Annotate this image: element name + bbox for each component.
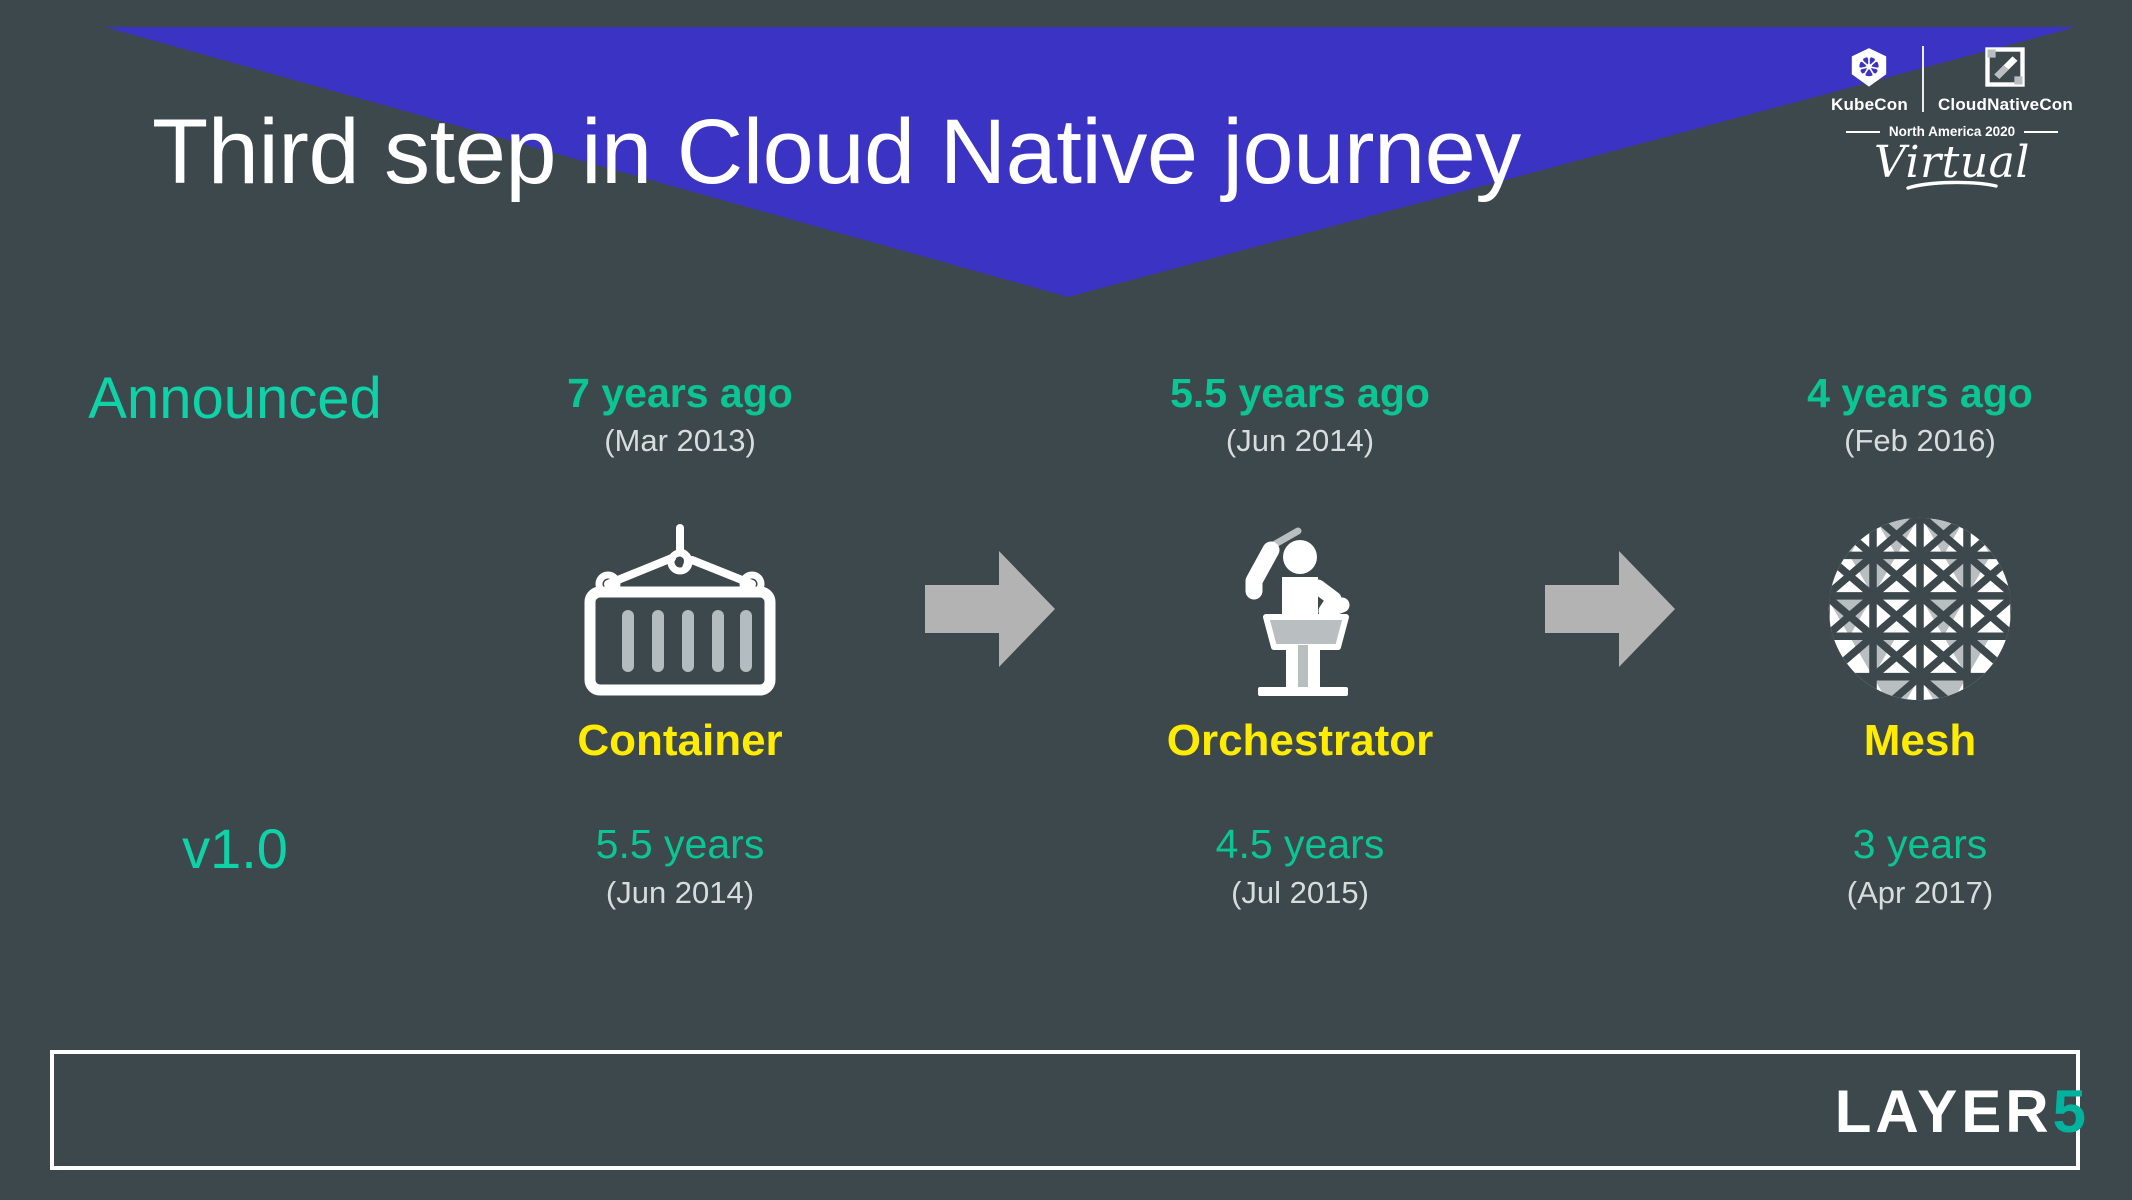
row-announced: Announced 7 years ago (Mar 2013) 5.5 yea… bbox=[0, 370, 2132, 461]
announced-age-orchestrator: 5.5 years ago bbox=[1090, 370, 1510, 417]
announced-age-container: 7 years ago bbox=[470, 370, 890, 417]
shipping-container-icon bbox=[580, 522, 780, 697]
v1-mesh: 3 years (Apr 2017) bbox=[1710, 821, 2130, 912]
announced-date-mesh: (Feb 2016) bbox=[1710, 421, 2130, 461]
icon-cell-orchestrator bbox=[1090, 509, 1510, 709]
logo-divider bbox=[1922, 46, 1924, 112]
icon-box-container bbox=[470, 509, 890, 709]
icon-box-orchestrator bbox=[1090, 509, 1510, 709]
category-name-container: Container bbox=[470, 719, 890, 763]
icon-cell-mesh bbox=[1710, 509, 2130, 709]
layer5-digit: 5 bbox=[2053, 1082, 2086, 1142]
virtual-wordmark: Virtual bbox=[1816, 141, 2088, 185]
cloudnativecon-label: CloudNativeCon bbox=[1938, 95, 2073, 115]
announced-date-orchestrator: (Jun 2014) bbox=[1090, 421, 1510, 461]
kubecon-cloudnativecon-logo: KubeCon CloudNativeCon North America 202… bbox=[1816, 46, 2088, 193]
layer5-logo: LAYER 5 bbox=[1835, 1082, 2086, 1142]
arrow-cell-2 bbox=[1510, 551, 1710, 667]
announced-container: 7 years ago (Mar 2013) bbox=[470, 370, 890, 461]
row-category-names: Container Orchestrator Mesh bbox=[0, 719, 2132, 763]
icon-box-mesh bbox=[1710, 509, 2130, 709]
conf-logo-top: KubeCon CloudNativeCon bbox=[1816, 46, 2088, 115]
row-v1: v1.0 5.5 years (Jun 2014) 4.5 years (Jul… bbox=[0, 821, 2132, 912]
timeline-grid: Announced 7 years ago (Mar 2013) 5.5 yea… bbox=[0, 370, 2132, 913]
page-title: Third step in Cloud Native journey bbox=[152, 104, 1521, 201]
footer-frame bbox=[50, 1050, 2080, 1170]
row-label-announced-cell: Announced bbox=[0, 370, 470, 428]
row-label-announced: Announced bbox=[0, 370, 470, 428]
cncf-square-icon bbox=[1985, 47, 2025, 87]
row-label-v1: v1.0 bbox=[0, 821, 470, 877]
rule-left bbox=[1846, 131, 1880, 133]
kubecon-label: KubeCon bbox=[1831, 95, 1908, 115]
cloudnativecon-block: CloudNativeCon bbox=[1926, 47, 2085, 115]
kubecon-block: KubeCon bbox=[1819, 46, 1920, 115]
category-name-orchestrator: Orchestrator bbox=[1090, 719, 1510, 763]
name-cell-container: Container bbox=[470, 719, 890, 763]
v1-age-mesh: 3 years bbox=[1710, 821, 2130, 868]
v1-date-orchestrator: (Jul 2015) bbox=[1090, 873, 1510, 913]
v1-orchestrator: 4.5 years (Jul 2015) bbox=[1090, 821, 1510, 912]
announced-mesh: 4 years ago (Feb 2016) bbox=[1710, 370, 2130, 461]
kubernetes-helm-icon bbox=[1847, 46, 1891, 90]
name-cell-mesh: Mesh bbox=[1710, 719, 2130, 763]
layer5-wordmark: LAYER bbox=[1835, 1082, 2053, 1142]
row-label-v1-cell: v1.0 bbox=[0, 821, 470, 877]
row-icons bbox=[0, 509, 2132, 709]
announced-date-container: (Mar 2013) bbox=[470, 421, 890, 461]
v1-age-orchestrator: 4.5 years bbox=[1090, 821, 1510, 868]
name-cell-orchestrator: Orchestrator bbox=[1090, 719, 1510, 763]
category-name-mesh: Mesh bbox=[1710, 719, 2130, 763]
icon-cell-container bbox=[470, 509, 890, 709]
v1-container: 5.5 years (Jun 2014) bbox=[470, 821, 890, 912]
arrow-container-to-orchestrator-icon bbox=[925, 551, 1055, 667]
v1-age-container: 5.5 years bbox=[470, 821, 890, 868]
v1-date-mesh: (Apr 2017) bbox=[1710, 873, 2130, 913]
arrow-orchestrator-to-mesh-icon bbox=[1545, 551, 1675, 667]
slide-canvas: Third step in Cloud Native journey bbox=[0, 0, 2132, 1200]
announced-orchestrator: 5.5 years ago (Jun 2014) bbox=[1090, 370, 1510, 461]
conductor-podium-icon bbox=[1230, 519, 1370, 699]
rule-right bbox=[2024, 131, 2058, 133]
v1-date-container: (Jun 2014) bbox=[470, 873, 890, 913]
announced-age-mesh: 4 years ago bbox=[1710, 370, 2130, 417]
arrow-cell-1 bbox=[890, 551, 1090, 667]
triangular-mesh-circle-icon bbox=[1826, 515, 2014, 703]
